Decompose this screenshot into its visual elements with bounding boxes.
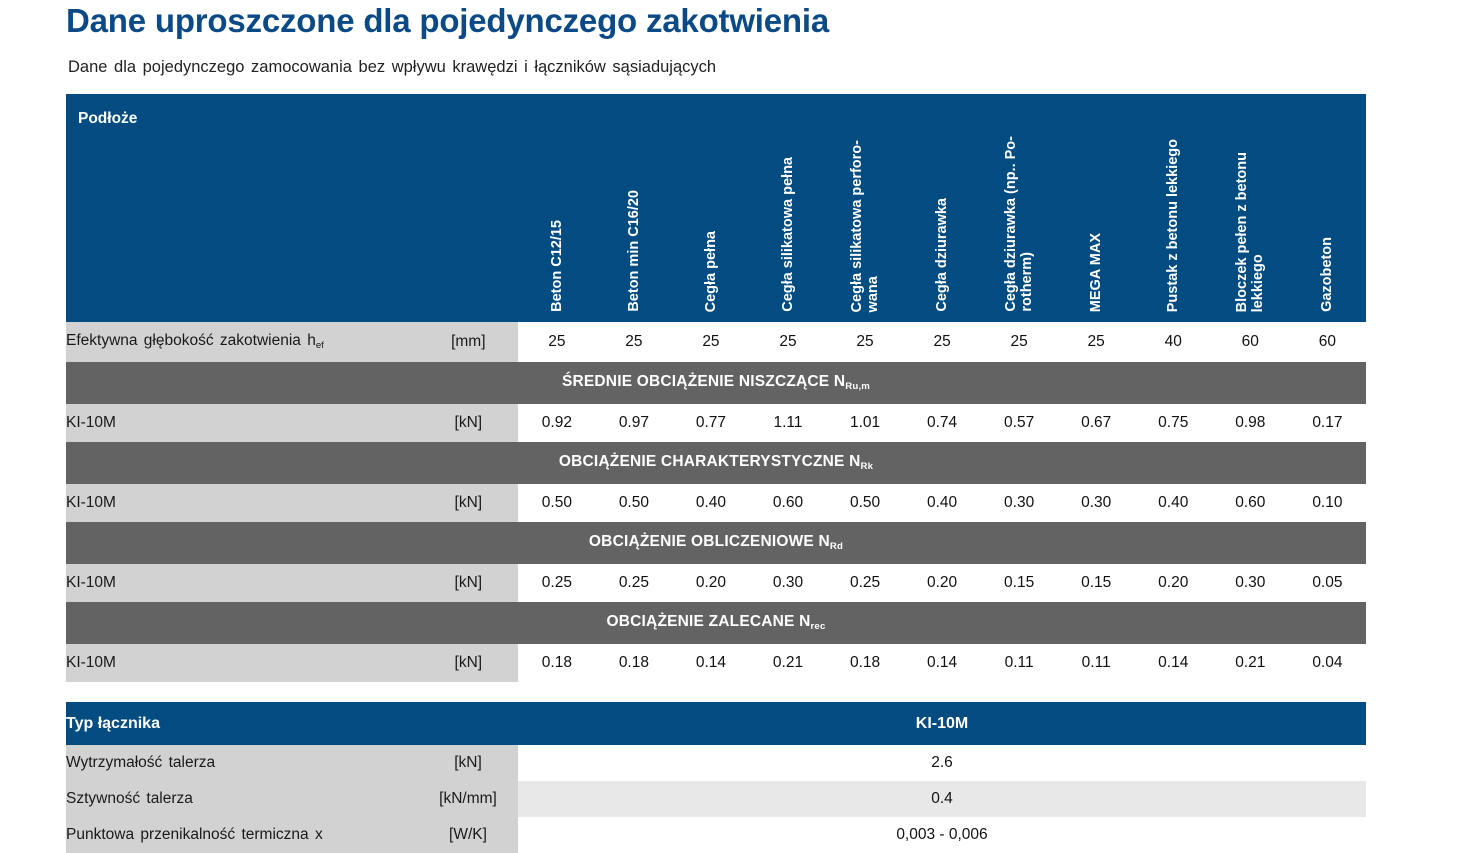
fastener-row-unit: [kN/mm] [418,781,518,817]
anchor-performance-table: PodłożeBeton C12/15Beton min C16/20Cegła… [66,94,1366,682]
fastener-row-unit: [kN] [418,745,518,781]
column-header-4: Cegła silikatowa perforo- wana [827,94,904,322]
column-header-label: MEGA MAX [1088,233,1104,312]
effective-depth-value: 25 [1058,322,1135,362]
column-header-6: Cegła dziurawka (np.. Po- rotherm) [981,94,1058,322]
fastener-row-value: 0,003 - 0,006 [518,817,1366,853]
column-header-10: Gazobeton [1289,94,1366,322]
data-row-label: KI-10M [66,644,418,682]
section-band-label: OBCIĄŻENIE CHARAKTERYSTYCZNE NRk [66,442,1366,484]
data-cell: 0.75 [1135,404,1212,442]
data-cell: 0.17 [1289,404,1366,442]
data-cell: 0.21 [1212,644,1289,682]
fastener-row-label: Sztywność talerza [66,781,418,817]
fastener-row: Wytrzymałość talerza[kN]2.6 [66,745,1366,781]
data-cell: 0.11 [1058,644,1135,682]
data-cell: 0.92 [518,404,595,442]
effective-depth-value: 60 [1289,322,1366,362]
effective-depth-value: 25 [904,322,981,362]
effective-depth-row: Efektywna głębokość zakotwienia hef[mm]2… [66,322,1366,362]
section-data-row-2: KI-10M[kN]0.250.250.200.300.250.200.150.… [66,564,1366,602]
section-band-label: ŚREDNIE OBCIĄŻENIE NISZCZĄCE NRu,m [66,362,1366,404]
data-row-label: KI-10M [66,564,418,602]
fastener-row-value: 2.6 [518,745,1366,781]
effective-depth-value: 25 [672,322,749,362]
page-title: Dane uproszczone dla pojedynczego zakotw… [66,2,829,40]
column-header-3: Cegła silikatowa pełna [749,94,826,322]
section-band-row-3: OBCIĄŻENIE ZALECANE Nrec [66,602,1366,644]
page-subtitle: Dane dla pojedynczego zamocowania bez wp… [68,58,716,77]
data-cell: 0.74 [904,404,981,442]
column-header-label: Beton C12/15 [549,220,565,312]
column-header-label: Gazobeton [1319,237,1335,312]
column-header-9: Bloczek pełen z betonu lekkiego [1212,94,1289,322]
effective-depth-value: 40 [1135,322,1212,362]
data-row-unit: [kN] [418,404,518,442]
data-cell: 0.30 [981,484,1058,522]
column-header-8: Pustak z betonu lekkiego [1135,94,1212,322]
fastener-row-value: 0.4 [518,781,1366,817]
data-cell: 0.18 [827,644,904,682]
effective-depth-label: Efektywna głębokość zakotwienia hef [66,322,418,362]
data-cell: 0.18 [595,644,672,682]
data-row-unit: [kN] [418,484,518,522]
data-cell: 0.40 [672,484,749,522]
data-cell: 0.25 [827,564,904,602]
column-header-label: Beton min C16/20 [626,190,642,312]
data-row-label: KI-10M [66,484,418,522]
data-cell: 0.50 [595,484,672,522]
column-header-7: MEGA MAX [1058,94,1135,322]
data-cell: 0.25 [518,564,595,602]
data-cell: 0.18 [518,644,595,682]
data-cell: 0.50 [518,484,595,522]
data-row-unit: [kN] [418,644,518,682]
data-cell: 0.30 [749,564,826,602]
corner-header-cell: Podłoże [66,94,418,322]
column-header-label: Cegła pełna [703,231,719,312]
data-cell: 0.20 [672,564,749,602]
section-data-row-0: KI-10M[kN]0.920.970.771.111.010.740.570.… [66,404,1366,442]
data-cell: 0.57 [981,404,1058,442]
fastener-row-label: Wytrzymałość talerza [66,745,418,781]
fastener-properties-table: Typ łącznikaKI-10MWytrzymałość talerza[k… [66,702,1366,853]
effective-depth-value: 25 [518,322,595,362]
data-cell: 0.10 [1289,484,1366,522]
table-header-row: PodłożeBeton C12/15Beton min C16/20Cegła… [66,94,1366,322]
column-header-label: Cegła silikatowa perforo- wana [849,140,881,312]
data-row-label: KI-10M [66,404,418,442]
effective-depth-value: 25 [749,322,826,362]
data-cell: 0.20 [904,564,981,602]
column-header-label: Cegła silikatowa pełna [780,157,796,312]
data-cell: 0.15 [1058,564,1135,602]
section-data-row-3: KI-10M[kN]0.180.180.140.210.180.140.110.… [66,644,1366,682]
data-cell: 0.97 [595,404,672,442]
data-cell: 0.14 [904,644,981,682]
effective-depth-value: 25 [981,322,1058,362]
data-cell: 0.25 [595,564,672,602]
data-cell: 0.98 [1212,404,1289,442]
data-cell: 0.30 [1212,564,1289,602]
fastener-header-value: KI-10M [518,702,1366,745]
fastener-header-row: Typ łącznikaKI-10M [66,702,1366,745]
data-cell: 0.50 [827,484,904,522]
section-band-row-1: OBCIĄŻENIE CHARAKTERYSTYCZNE NRk [66,442,1366,484]
data-cell: 1.01 [827,404,904,442]
data-cell: 0.60 [749,484,826,522]
effective-depth-value: 25 [595,322,672,362]
fastener-row: Sztywność talerza[kN/mm]0.4 [66,781,1366,817]
fastener-header-spacer [418,702,518,745]
effective-depth-value: 25 [827,322,904,362]
column-header-label: Pustak z betonu lekkiego [1165,139,1181,312]
data-cell: 0.14 [672,644,749,682]
column-header-2: Cegła pełna [672,94,749,322]
column-header-label: Cegła dziurawka [934,198,950,312]
column-header-label: Cegła dziurawka (np.. Po- rotherm) [1003,136,1035,312]
data-cell: 0.67 [1058,404,1135,442]
fastener-header-label: Typ łącznika [66,702,418,745]
section-band-label: OBCIĄŻENIE ZALECANE Nrec [66,602,1366,644]
data-cell: 0.60 [1212,484,1289,522]
data-cell: 0.14 [1135,644,1212,682]
section-data-row-1: KI-10M[kN]0.500.500.400.600.500.400.300.… [66,484,1366,522]
column-header-0: Beton C12/15 [518,94,595,322]
section-band-row-0: ŚREDNIE OBCIĄŻENIE NISZCZĄCE NRu,m [66,362,1366,404]
column-header-label: Bloczek pełen z betonu lekkiego [1234,152,1266,312]
data-row-unit: [kN] [418,564,518,602]
effective-depth-unit: [mm] [418,322,518,362]
effective-depth-value: 60 [1212,322,1289,362]
header-unit-cell [418,94,518,322]
data-cell: 0.40 [904,484,981,522]
fastener-row-unit: [W/K] [418,817,518,853]
data-cell: 1.11 [749,404,826,442]
section-band-row-2: OBCIĄŻENIE OBLICZENIOWE NRd [66,522,1366,564]
fastener-row-label: Punktowa przenikalność termiczna x [66,817,418,853]
fastener-row: Punktowa przenikalność termiczna x[W/K]0… [66,817,1366,853]
section-band-label: OBCIĄŻENIE OBLICZENIOWE NRd [66,522,1366,564]
data-cell: 0.05 [1289,564,1366,602]
data-cell: 0.04 [1289,644,1366,682]
data-cell: 0.21 [749,644,826,682]
data-cell: 0.40 [1135,484,1212,522]
data-cell: 0.20 [1135,564,1212,602]
column-header-5: Cegła dziurawka [904,94,981,322]
data-cell: 0.30 [1058,484,1135,522]
data-cell: 0.11 [981,644,1058,682]
data-cell: 0.15 [981,564,1058,602]
data-cell: 0.77 [672,404,749,442]
column-header-1: Beton min C16/20 [595,94,672,322]
datasheet-page: Dane uproszczone dla pojedynczego zakotw… [0,0,1463,851]
corner-header-label: Podłoże [66,94,418,128]
